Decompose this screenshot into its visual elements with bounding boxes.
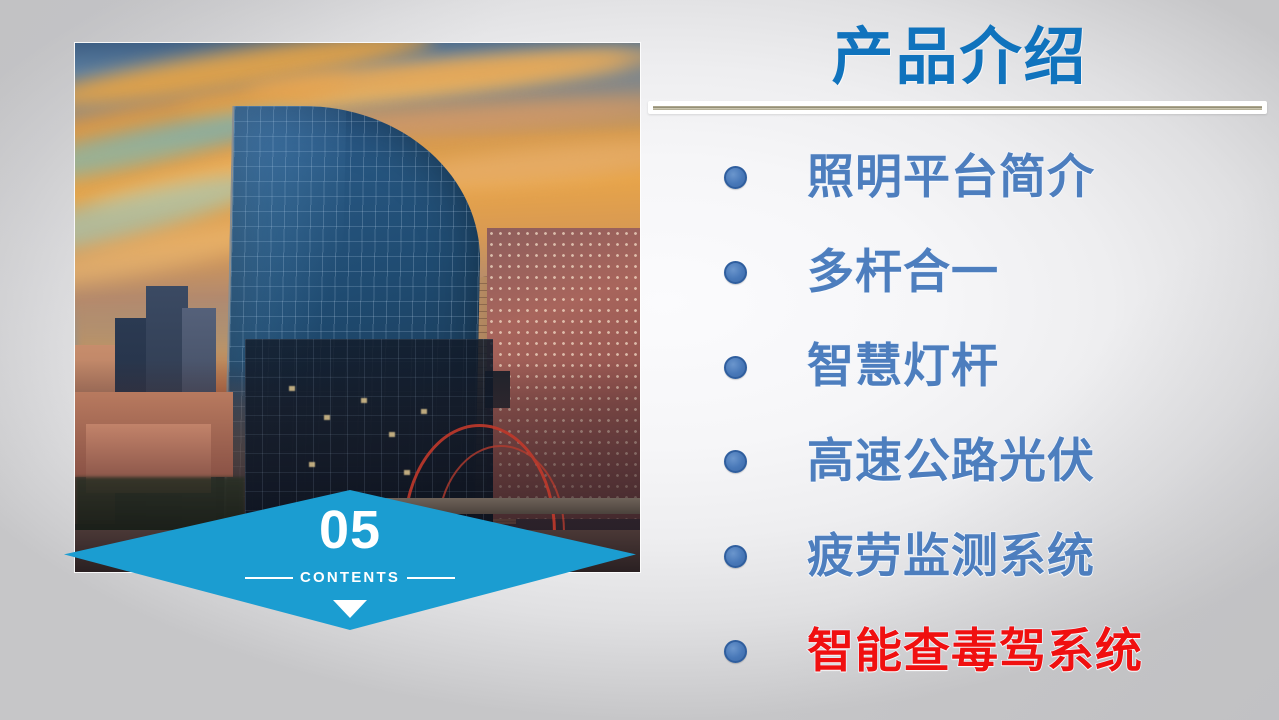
bullet-icon: [724, 356, 747, 379]
title-divider: [648, 101, 1267, 114]
list-item[interactable]: 疲劳监测系统: [640, 532, 1279, 581]
bullet-icon: [724, 450, 747, 473]
list-item-label: 多杆合一: [807, 248, 999, 297]
list-item[interactable]: 智能查毒驾系统: [640, 627, 1279, 676]
bullet-icon: [724, 166, 747, 189]
right-content-panel: 产品介绍 照明平台简介 多杆合一 智慧灯杆 高速公路光伏: [640, 0, 1279, 720]
list-item[interactable]: 照明平台简介: [640, 153, 1279, 202]
bullet-icon: [724, 640, 747, 663]
list-item[interactable]: 多杆合一: [640, 248, 1279, 297]
list-item-label: 高速公路光伏: [807, 437, 1095, 486]
bullet-icon: [724, 545, 747, 568]
list-item[interactable]: 高速公路光伏: [640, 437, 1279, 486]
list-item[interactable]: 智慧灯杆: [640, 342, 1279, 391]
list-item-label: 智能查毒驾系统: [807, 627, 1143, 676]
list-item-label: 智慧灯杆: [807, 342, 999, 391]
presentation-slide: 05 CONTENTS 产品介绍 照明平台简介 多杆合一 智慧灯杆: [0, 0, 1279, 720]
bullet-icon: [724, 261, 747, 284]
divider-inner-bar: [652, 105, 1263, 111]
list-item-label: 疲劳监测系统: [807, 532, 1095, 581]
list-item-label: 照明平台简介: [807, 153, 1095, 202]
contents-list: 照明平台简介 多杆合一 智慧灯杆 高速公路光伏 疲劳监测系统 智能查毒驾系统: [640, 135, 1279, 700]
page-title: 产品介绍: [640, 6, 1279, 96]
